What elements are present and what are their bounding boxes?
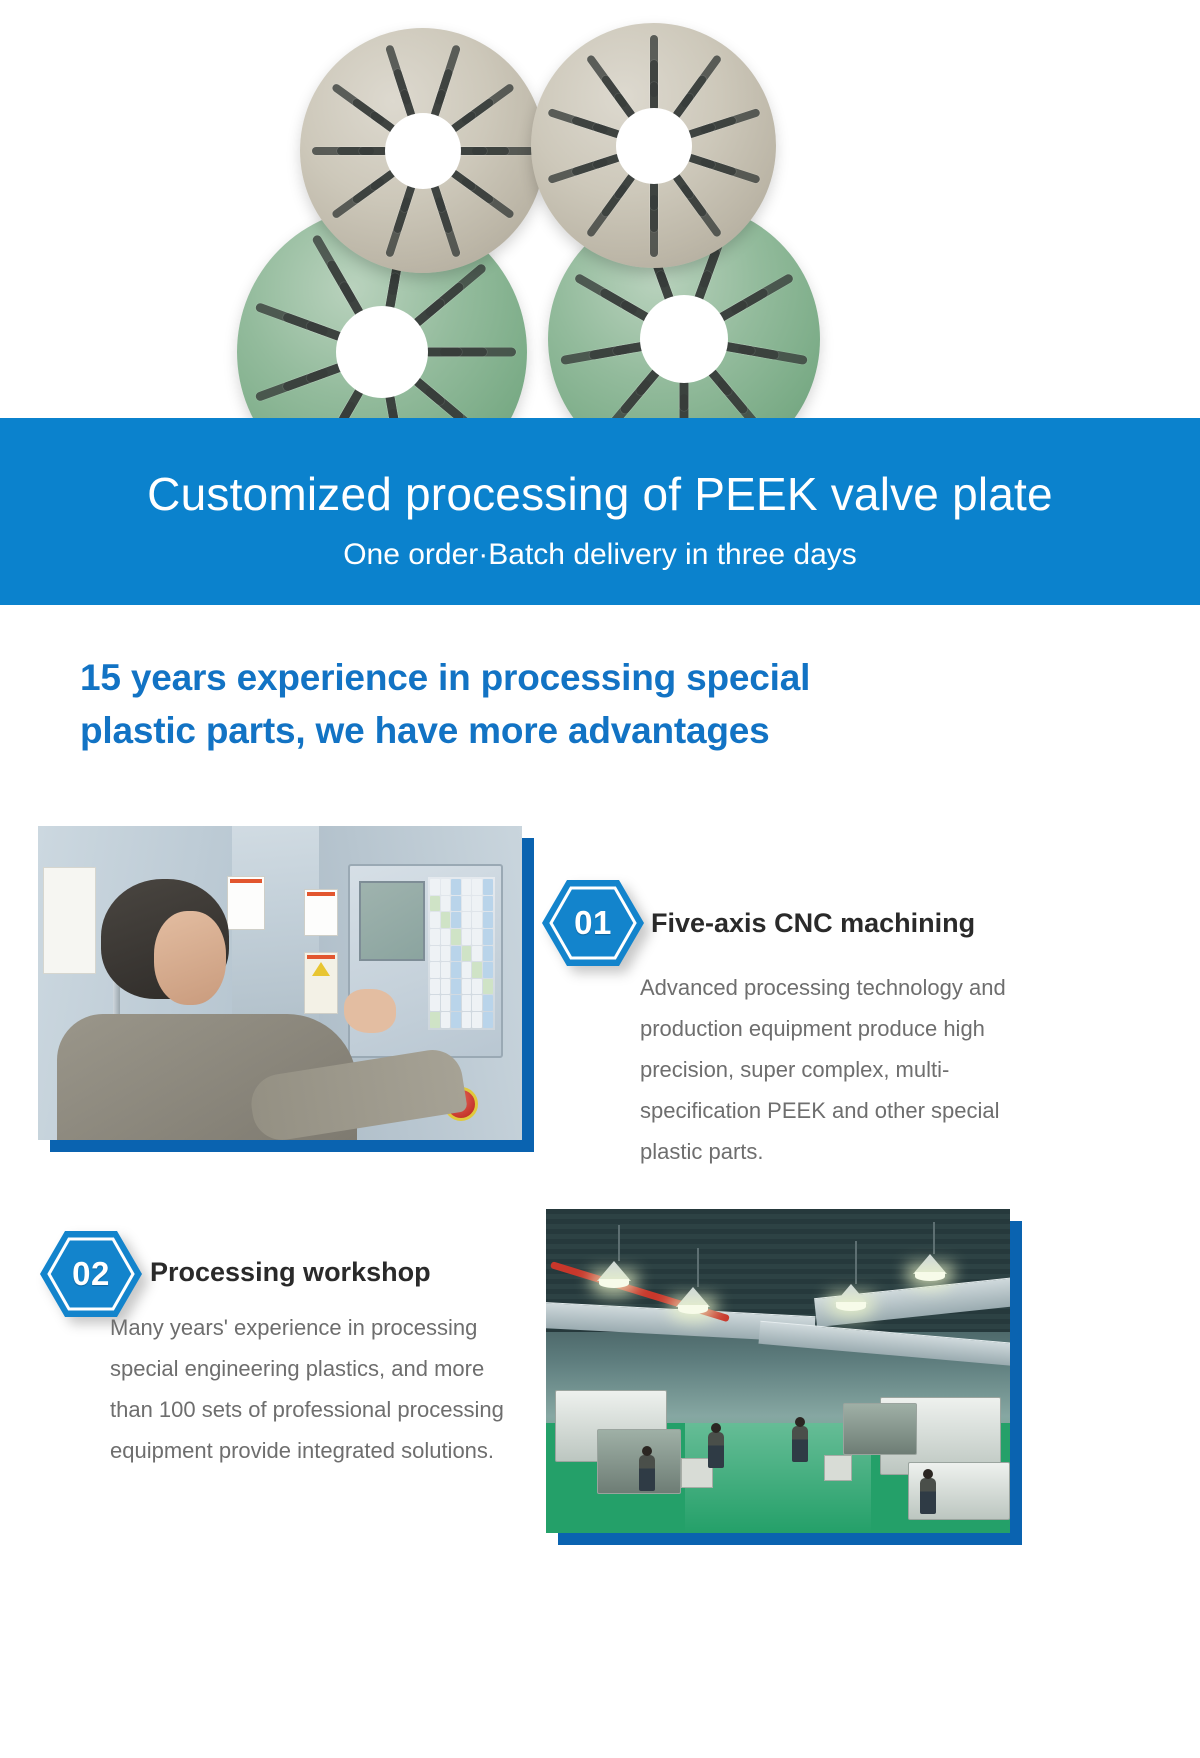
section-heading-line-2: plastic parts, we have more advantages (80, 705, 1040, 758)
worker-1 (639, 1455, 655, 1491)
pendant-lamp-1 (597, 1261, 631, 1281)
worker-3 (792, 1426, 808, 1462)
section-heading: 15 years experience in processing specia… (80, 652, 1040, 757)
operator-hand (344, 989, 396, 1033)
lamp-stem-1 (618, 1225, 620, 1261)
banner-subtitle: One order·Batch delivery in three days (343, 538, 857, 572)
cnc-keypad[interactable] (428, 877, 494, 1030)
feature-title-02: Processing workshop (150, 1257, 431, 1288)
cnc-display-screen (359, 881, 425, 961)
hero-product-photo (0, 0, 1200, 440)
product-detail-page: Customized processing of PEEK valve plat… (0, 0, 1200, 1758)
plate-center-hole (385, 113, 461, 189)
cnc-photo-frame (38, 826, 522, 1148)
photo-accent-bar-bottom (50, 1140, 534, 1152)
feature-body-01: Advanced processing technology and produ… (640, 968, 1060, 1173)
pendant-lamp-4 (913, 1254, 947, 1274)
pendant-lamp-2 (676, 1287, 710, 1307)
valve-plate-tan-left (300, 28, 545, 273)
feature-number-01: 01 (540, 877, 646, 969)
cnc-machining-photo (38, 826, 522, 1140)
plate-center-hole (616, 108, 692, 184)
workshop-photo-frame (546, 1209, 1022, 1545)
feature-badge-01: 01 (540, 877, 646, 969)
hero-banner: Customized processing of PEEK valve plat… (0, 418, 1200, 605)
valve-plate-tan-right (531, 23, 776, 268)
lamp-stem-3 (855, 1241, 857, 1283)
worker-2 (708, 1432, 724, 1468)
safety-label-warning (304, 952, 338, 1015)
plate-center-hole (640, 295, 728, 383)
lamp-stem-4 (933, 1222, 935, 1254)
feature-body-02: Many years' experience in processing spe… (110, 1308, 520, 1472)
cnc-machine-right-2 (843, 1403, 917, 1455)
photo-accent-bar-right (1010, 1221, 1022, 1545)
worker-4 (920, 1478, 936, 1514)
pendant-lamp-3 (834, 1284, 868, 1304)
feature-title-01: Five-axis CNC machining (651, 908, 975, 939)
processing-workshop-photo (546, 1209, 1010, 1533)
lamp-stem-2 (697, 1248, 699, 1287)
posted-document (43, 867, 96, 974)
safety-label-a (227, 876, 266, 929)
safety-label-b (304, 889, 338, 936)
operator-face (154, 911, 226, 1005)
section-heading-line-1: 15 years experience in processing specia… (80, 652, 1040, 705)
feature-number-02: 02 (38, 1228, 144, 1320)
plate-center-hole (336, 306, 428, 398)
banner-title: Customized processing of PEEK valve plat… (147, 469, 1053, 521)
feature-badge-02: 02 (38, 1228, 144, 1320)
photo-accent-bar-bottom (558, 1533, 1022, 1545)
photo-accent-bar-right (522, 838, 534, 1152)
material-cart-2 (824, 1455, 852, 1481)
